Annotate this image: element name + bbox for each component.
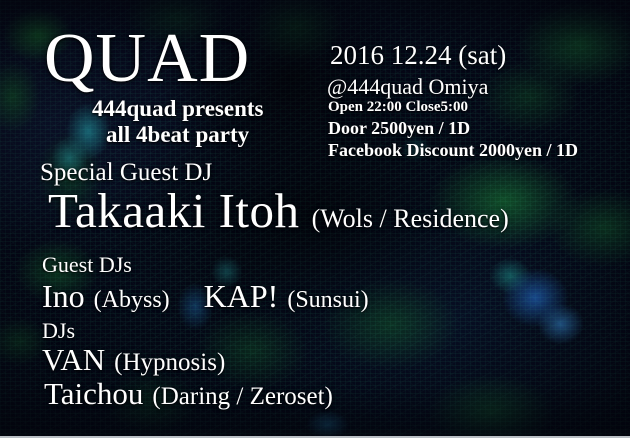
headliner-affiliation: (Wols / Residence) xyxy=(312,204,509,234)
dj-row: VAN (Hypnosis) xyxy=(42,342,225,378)
quad-tagline-line1: 444quad presents xyxy=(92,96,263,122)
dj-affiliation: (Hypnosis) xyxy=(114,349,225,377)
guest-dj-affiliation: (Sunsui) xyxy=(287,287,368,314)
djs-label: DJs xyxy=(42,318,75,344)
guest-djs-label: Guest DJs xyxy=(42,252,132,278)
dj-row: Taichou (Daring / Zeroset) xyxy=(44,376,333,412)
guest-dj-name: KAP! xyxy=(204,278,279,315)
event-flyer: QUAD 444quad presents all 4beat party 20… xyxy=(0,0,630,438)
dj-affiliation: (Daring / Zeroset) xyxy=(152,383,332,411)
event-hours: Open 22:00 Close5:00 xyxy=(328,99,468,116)
dj-name: VAN xyxy=(42,342,105,378)
headliner-row: Takaaki Itoh (Wols / Residence) xyxy=(48,186,509,235)
dj-name: Taichou xyxy=(44,376,143,412)
event-facebook-price: Facebook Discount 2000yen / 1D xyxy=(328,140,578,161)
guest-dj-name: Ino xyxy=(42,278,85,315)
headliner-name: Takaaki Itoh xyxy=(48,186,300,235)
guest-dj-affiliation: (Abyss) xyxy=(94,287,170,314)
quad-tagline-line2: all 4beat party xyxy=(106,122,249,148)
quad-logo-title: QUAD xyxy=(44,24,250,94)
event-door-price: Door 2500yen / 1D xyxy=(328,118,470,139)
guest-djs-row: Ino (Abyss) KAP! (Sunsui) xyxy=(42,278,369,315)
event-date: 2016 12.24 (sat) xyxy=(330,40,506,71)
event-venue: @444quad Omiya xyxy=(327,74,488,100)
flyer-content: QUAD 444quad presents all 4beat party 20… xyxy=(0,0,630,438)
